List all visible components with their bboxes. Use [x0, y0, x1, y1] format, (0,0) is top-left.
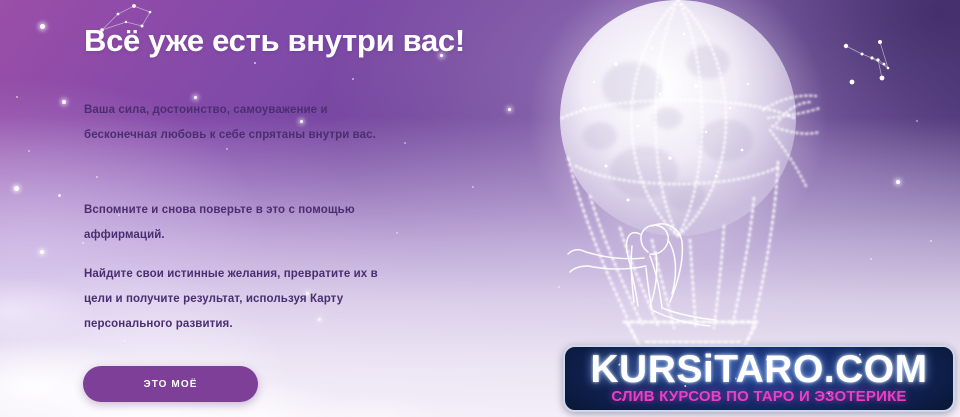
star: [508, 108, 511, 111]
watermark-title: KURSiTARO.COM: [565, 348, 953, 392]
body-paragraph-1: Ваша сила, достоинство, самоуважение и б…: [84, 98, 389, 148]
watermark-banner: KURSiTARO.COM СЛИВ КУРСОВ ПО ТАРО И ЭЗОТ…: [563, 345, 955, 412]
star: [40, 24, 45, 29]
hero-banner: Всё уже есть внутри вас! Ваша сила, дост…: [0, 0, 960, 417]
star: [58, 194, 61, 197]
star: [896, 180, 900, 184]
hero-content: Всё уже есть внутри вас! Ваша сила, дост…: [84, 0, 484, 417]
star: [28, 150, 30, 152]
page-title: Всё уже есть внутри вас!: [84, 23, 465, 59]
watermark-subtitle: СЛИВ КУРСОВ ПО ТАРО И ЭЗОТЕРИКЕ: [565, 388, 953, 405]
star: [558, 286, 560, 288]
cta-button[interactable]: ЭТО МОЁ: [83, 366, 258, 402]
star: [870, 258, 872, 260]
star: [14, 186, 19, 191]
star: [40, 250, 44, 254]
star: [916, 120, 918, 122]
star: [16, 96, 18, 98]
body-paragraph-2: Вспомните и снова поверьте в это с помощ…: [84, 198, 389, 248]
star: [62, 100, 66, 104]
body-paragraph-3: Найдите свои истинные желания, превратит…: [84, 262, 389, 337]
star: [930, 240, 932, 242]
